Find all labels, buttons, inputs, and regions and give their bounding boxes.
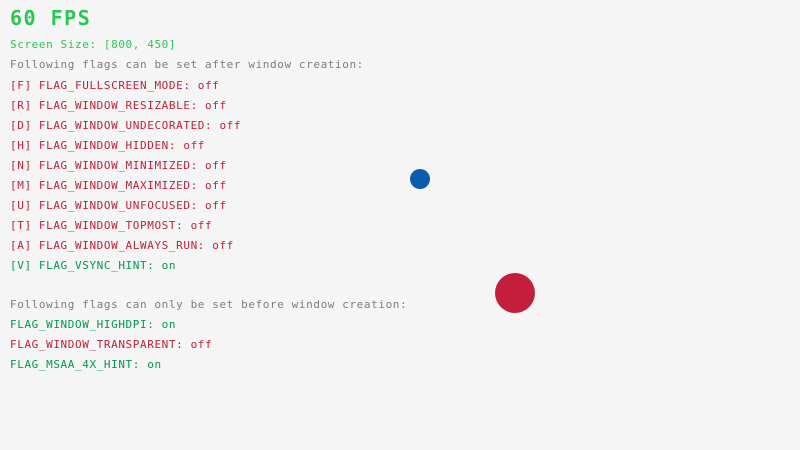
flag-row-flag-vsync-hint[interactable]: [V] FLAG_VSYNC_HINT: on [10,260,176,271]
flag-row-flag-window-transparent: FLAG_WINDOW_TRANSPARENT: off [10,339,212,350]
flag-row-flag-window-hidden[interactable]: [H] FLAG_WINDOW_HIDDEN: off [10,140,205,151]
flag-row-flag-window-maximized[interactable]: [M] FLAG_WINDOW_MAXIMIZED: off [10,180,227,191]
screen-size-label: Screen Size: [800, 450] [10,39,176,50]
fps-counter: 60 FPS [10,8,91,28]
flag-row-flag-window-minimized[interactable]: [N] FLAG_WINDOW_MINIMIZED: off [10,160,227,171]
flag-row-flag-window-unfocused[interactable]: [U] FLAG_WINDOW_UNFOCUSED: off [10,200,227,211]
small-blue-ball [410,169,430,189]
flag-row-flag-msaa-4x-hint: FLAG_MSAA_4X_HINT: on [10,359,162,370]
creation-flags-heading: Following flags can only be set before w… [10,299,407,310]
hud-text-layer: 60 FPS Screen Size: [800, 450] Following… [0,0,800,450]
raylib-window-canvas: 60 FPS Screen Size: [800, 450] Following… [0,0,800,450]
flag-row-flag-fullscreen-mode[interactable]: [F] FLAG_FULLSCREEN_MODE: off [10,80,219,91]
flag-row-flag-window-always-run[interactable]: [A] FLAG_WINDOW_ALWAYS_RUN: off [10,240,234,251]
runtime-flags-heading: Following flags can be set after window … [10,59,364,70]
flag-row-flag-window-resizable[interactable]: [R] FLAG_WINDOW_RESIZABLE: off [10,100,227,111]
flag-row-flag-window-topmost[interactable]: [T] FLAG_WINDOW_TOPMOST: off [10,220,212,231]
large-red-ball [495,273,535,313]
flag-row-flag-window-highdpi: FLAG_WINDOW_HIGHDPI: on [10,319,176,330]
flag-row-flag-window-undecorated[interactable]: [D] FLAG_WINDOW_UNDECORATED: off [10,120,241,131]
